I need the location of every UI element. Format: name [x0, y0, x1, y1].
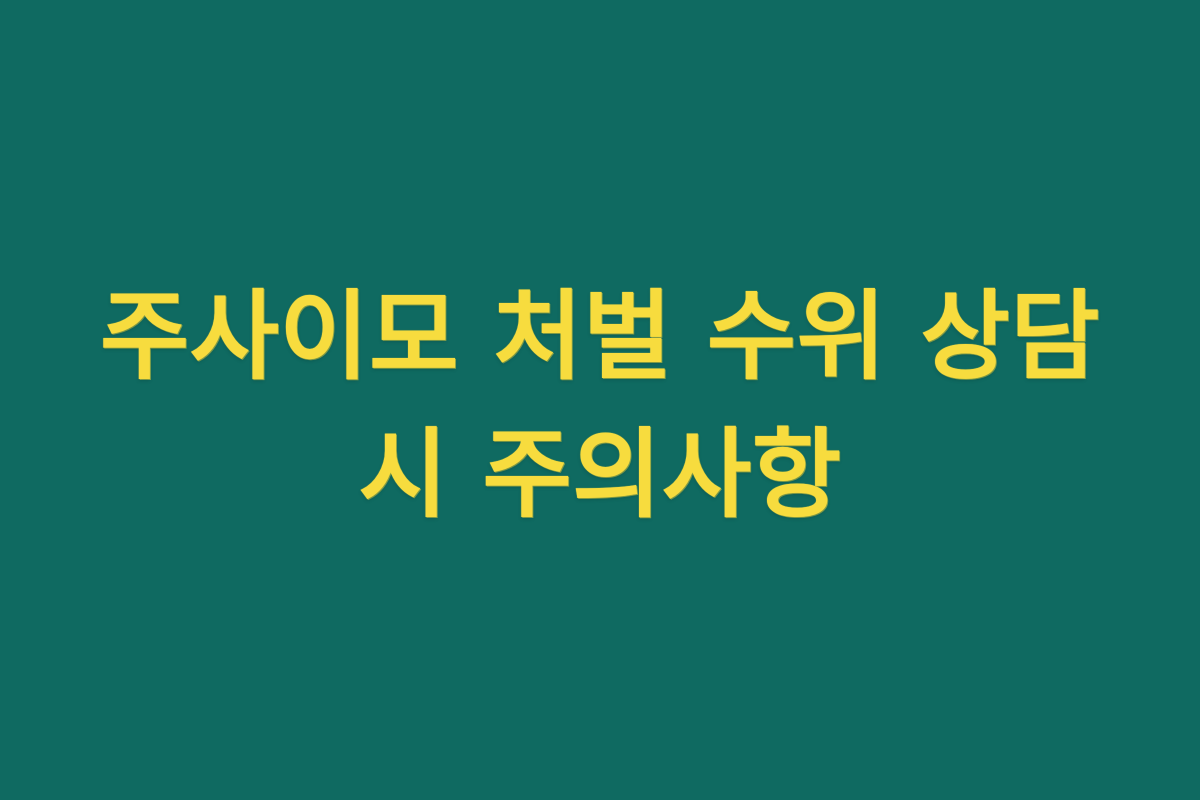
banner-canvas: 주사이모 처벌 수위 상담 시 주의사항 — [0, 0, 1200, 800]
headline-line-2: 시 주의사항 — [24, 406, 1176, 544]
headline-line-1: 주사이모 처벌 수위 상담 — [24, 268, 1176, 406]
headline-block: 주사이모 처벌 수위 상담 시 주의사항 — [0, 268, 1200, 543]
